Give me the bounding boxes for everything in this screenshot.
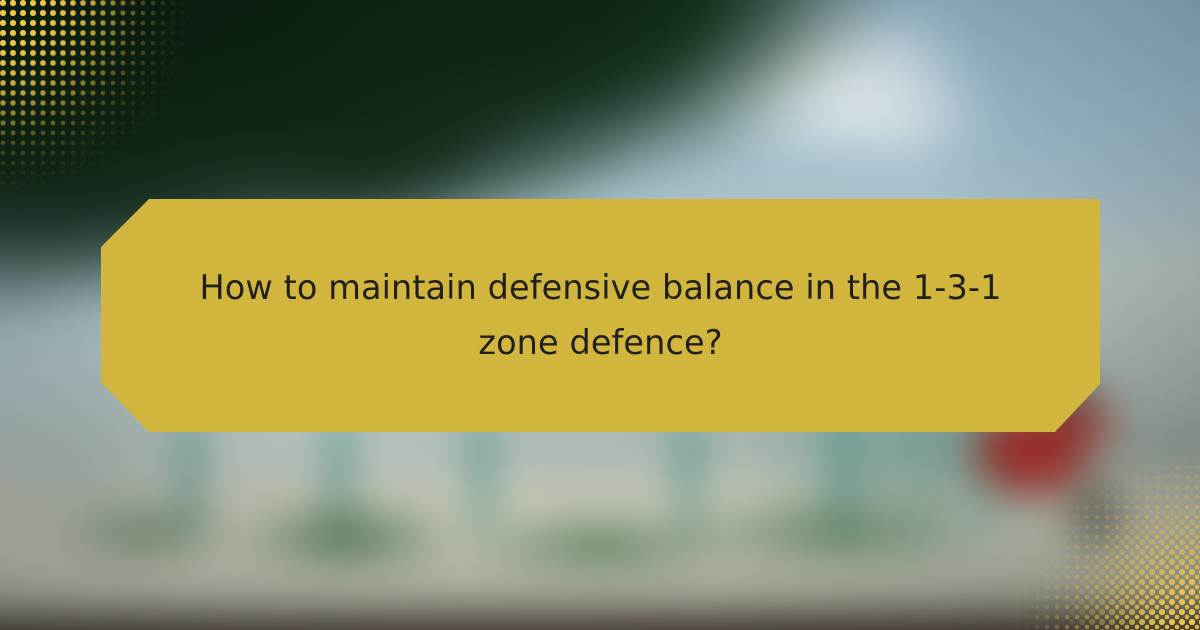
question-card: How to maintain defensive balance in the… [101, 199, 1100, 432]
question-card-inner: How to maintain defensive balance in the… [161, 261, 1041, 371]
social-card-canvas: How to maintain defensive balance in the… [0, 0, 1200, 630]
question-title: How to maintain defensive balance in the… [161, 261, 1041, 371]
